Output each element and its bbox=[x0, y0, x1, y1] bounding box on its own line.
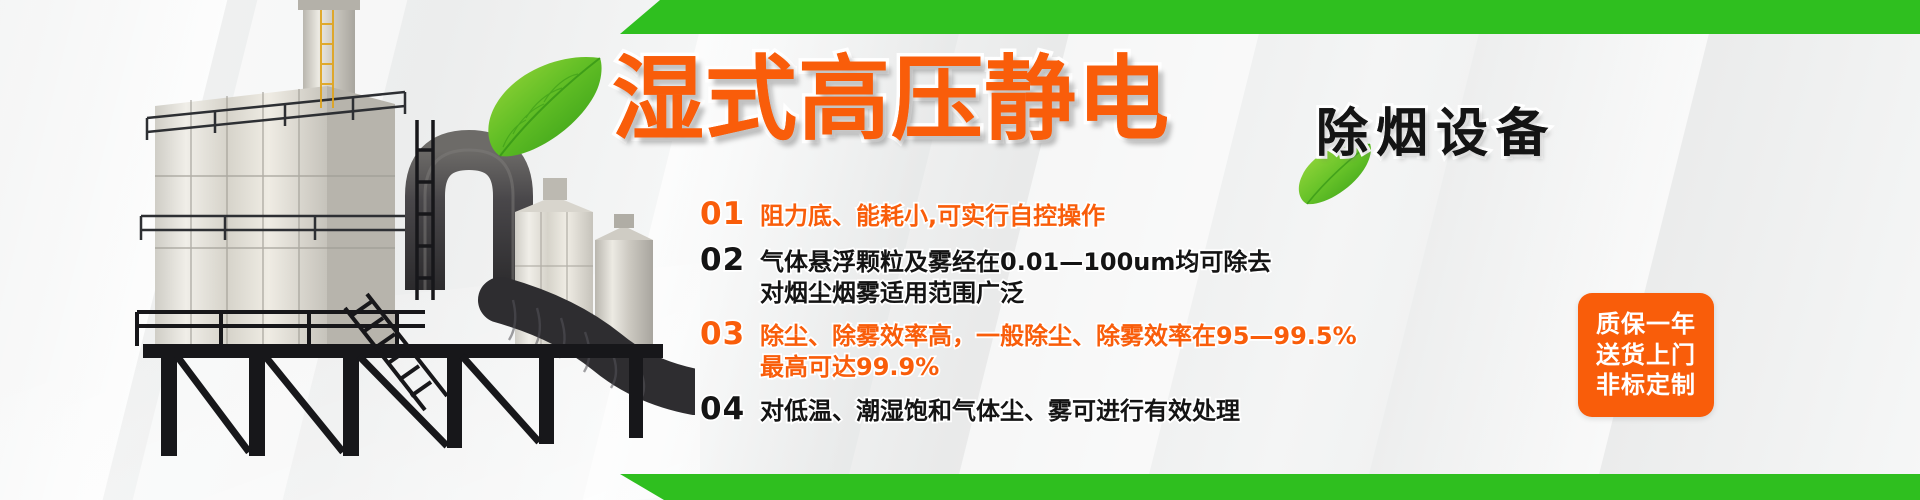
badge-line: 送货上门 bbox=[1596, 340, 1696, 371]
badge-line: 质保一年 bbox=[1596, 309, 1696, 340]
feature-number: 01 bbox=[700, 196, 752, 234]
feature-text-line: 除尘、除雾效率高，一般除尘、除雾效率在95—99.5% bbox=[760, 321, 1357, 352]
feature-item: 03 除尘、除雾效率高，一般除尘、除雾效率在95—99.5% 最高可达99.9% bbox=[700, 316, 1600, 382]
feature-number: 04 bbox=[700, 391, 752, 429]
feature-text: 对低温、潮湿饱和气体尘、雾可进行有效处理 bbox=[760, 391, 1240, 427]
badge-line: 非标定制 bbox=[1596, 370, 1696, 401]
promo-banner: 湿式高压静电 湿式高压静电 除烟设备 除烟设备 01 阻力底、能耗小,可实行自控… bbox=[0, 0, 1920, 500]
feature-text-line: 最高可达99.9% bbox=[760, 352, 1357, 383]
page-title: 湿式高压静电 bbox=[612, 54, 1170, 146]
feature-text-line: 对烟尘烟雾适用范围广泛 bbox=[760, 278, 1271, 309]
feature-list: 01 阻力底、能耗小,可实行自控操作 02 气体悬浮颗粒及雾经在0.01—100… bbox=[700, 196, 1600, 435]
feature-number: 02 bbox=[700, 242, 752, 280]
feature-text: 阻力底、能耗小,可实行自控操作 bbox=[760, 196, 1105, 232]
guarantee-badge: 质保一年 送货上门 非标定制 bbox=[1578, 293, 1714, 417]
feature-text-line: 阻力底、能耗小,可实行自控操作 bbox=[760, 201, 1105, 232]
leaf-icon bbox=[482, 52, 607, 160]
feature-item: 01 阻力底、能耗小,可实行自控操作 bbox=[700, 196, 1600, 234]
green-accent-bar-bottom bbox=[620, 474, 1920, 500]
feature-number: 03 bbox=[700, 316, 752, 354]
green-accent-bar-top bbox=[620, 0, 1920, 34]
banner-subheadline: 除烟设备 bbox=[1316, 108, 1556, 160]
feature-text: 除尘、除雾效率高，一般除尘、除雾效率在95—99.5% 最高可达99.9% bbox=[760, 316, 1357, 382]
feature-item: 02 气体悬浮颗粒及雾经在0.01—100um均可除去 对烟尘烟雾适用范围广泛 bbox=[700, 242, 1600, 308]
feature-text-line: 气体悬浮颗粒及雾经在0.01—100um均可除去 bbox=[760, 247, 1271, 278]
feature-text-line: 对低温、潮湿饱和气体尘、雾可进行有效处理 bbox=[760, 396, 1240, 427]
feature-item: 04 对低温、潮湿饱和气体尘、雾可进行有效处理 bbox=[700, 391, 1600, 429]
feature-text: 气体悬浮颗粒及雾经在0.01—100um均可除去 对烟尘烟雾适用范围广泛 bbox=[760, 242, 1271, 308]
